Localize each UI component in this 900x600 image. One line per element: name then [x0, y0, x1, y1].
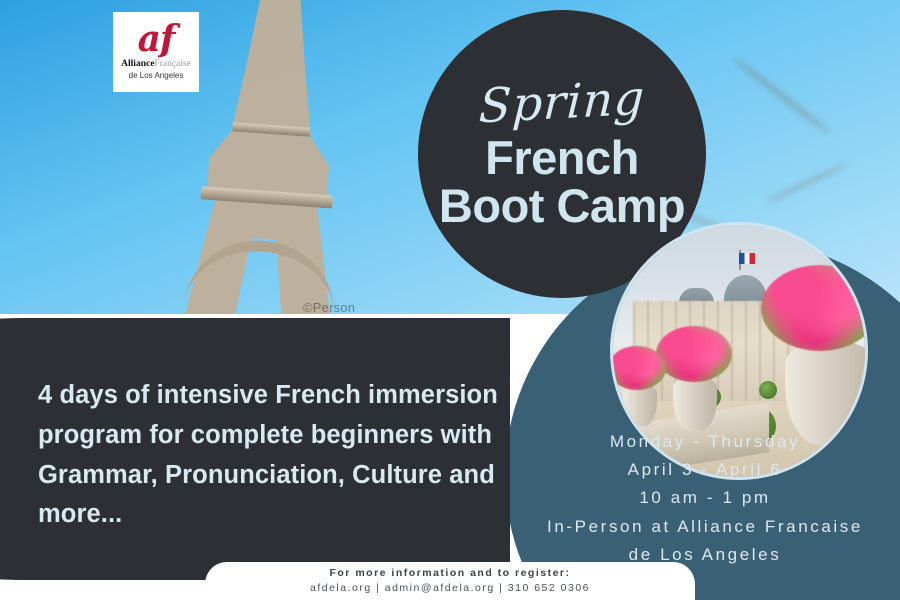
footer-contact-info[interactable]: afdela.org | admin@afdela.org | 310 652 …: [310, 581, 590, 597]
logo-name-francaise: Française: [154, 59, 190, 69]
schedule-line-days: Monday - Thursday: [510, 428, 900, 456]
schedule-details: Monday - Thursday April 3 - April 6 10 a…: [510, 428, 900, 569]
logo-monogram-af: af: [138, 23, 175, 56]
stone-urn: [623, 384, 657, 426]
title-line-boot-camp: Boot Camp: [439, 182, 685, 230]
pink-flowers: [656, 326, 732, 382]
title-script-spring: Spring: [478, 74, 646, 130]
alliance-francaise-logo[interactable]: af AllianceFrançaise de Los Angeles: [113, 12, 199, 92]
blossom-branch: [765, 163, 848, 204]
footer-heading: For more information and to register:: [329, 567, 570, 581]
title-line-french: French: [485, 134, 639, 182]
flyer-canvas: ©Person Spring French Boot Camp: [0, 0, 900, 600]
photo-watermark: ©Person: [303, 300, 355, 314]
pink-flowers: [610, 346, 666, 390]
french-flag-icon: [739, 253, 755, 264]
stone-urn: [673, 376, 717, 430]
blossom-branch: [733, 58, 830, 135]
program-description: 4 days of intensive French immersion pro…: [38, 376, 508, 535]
logo-organization-name: AllianceFrançaise: [121, 59, 191, 70]
schedule-line-time: 10 am - 1 pm: [510, 484, 900, 512]
logo-name-alliance: Alliance: [121, 59, 154, 69]
schedule-line-dates: April 3 - April 6: [510, 456, 900, 484]
logo-city: de Los Angeles: [129, 71, 184, 81]
footer-contact-bar: For more information and to register: af…: [205, 562, 695, 600]
schedule-line-location: In-Person at Alliance Francaise: [510, 513, 900, 541]
